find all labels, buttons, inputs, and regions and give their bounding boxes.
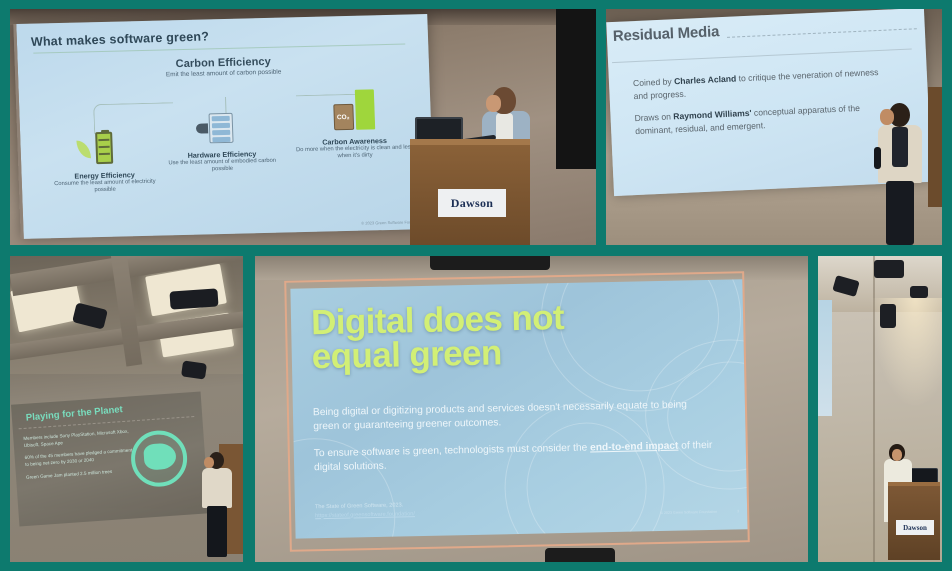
pillar-carbon-awareness: CO₂ Carbon Awareness Do more when the el… — [288, 88, 420, 162]
pillar-hardware-efficiency: Hardware Efficiency Use the least amount… — [162, 112, 282, 175]
leaf-icon — [76, 140, 91, 158]
slide-bullets: Members include Sony PlayStation, Micros… — [23, 428, 136, 481]
speaker-legs — [886, 181, 914, 245]
bullet-2: 60% of the 45 members have pledged a com… — [25, 448, 136, 469]
podium-plaque: Dawson — [438, 189, 506, 217]
slide-page-number: 3 — [737, 509, 739, 513]
headline-line-2: equal green — [311, 334, 612, 374]
screen-frame: Digital does not equal green Being digit… — [284, 271, 750, 552]
body-paragraph-1: Being digital or digitizing products and… — [313, 398, 714, 435]
slide-copyright: © 2023 Green Software Foundation — [660, 510, 717, 515]
speaker-top — [892, 127, 908, 167]
podium-plaque: Dawson — [896, 520, 934, 535]
slide-what-makes-software-green: What makes software green? Carbon Effici… — [13, 14, 434, 239]
slide-headline: Digital does not equal green — [311, 300, 612, 373]
panel-top-right: Residual Media Coined by Charles Acland … — [606, 9, 942, 245]
speaker-jacket — [202, 468, 232, 508]
source-url-link[interactable]: https://stateof.greensoftware.foundation… — [315, 511, 415, 519]
floor-fixture — [545, 548, 615, 562]
dark-curtain — [556, 9, 596, 169]
panel-bottom-center: Digital does not equal green Being digit… — [255, 256, 808, 562]
pillar-energy-efficiency: Energy Efficiency Consume the least amou… — [48, 131, 160, 196]
speaker-face — [880, 109, 894, 125]
photo-collage: What makes software green? Carbon Effici… — [0, 0, 952, 571]
panel-bottom-right: Dawson — [818, 256, 942, 562]
podium: Dawson — [888, 482, 940, 560]
paragraph-2: Draws on Raymond Williams' conceptual ap… — [634, 100, 890, 137]
speaker-legs — [207, 506, 227, 557]
handheld-microphone — [874, 147, 881, 169]
co2-box-icon: CO₂ — [333, 104, 354, 130]
header-rule — [612, 48, 912, 63]
title-dashed-line — [727, 28, 917, 38]
stage-light-icon — [910, 286, 928, 298]
pillar-desc: Do more when the electricity is clean an… — [290, 144, 420, 162]
stage-light-icon — [169, 288, 218, 309]
battery-icon — [95, 132, 113, 164]
server-rack-icon — [209, 113, 234, 144]
wall-post — [928, 87, 942, 207]
pillar-desc: Consume the least amount of electricity … — [50, 179, 160, 196]
planet-gamepad-icon — [129, 429, 189, 489]
panel-bottom-left: Playing for the Planet Members include S… — [10, 256, 243, 562]
plug-icon — [196, 123, 208, 133]
slide-title: Playing for the Planet — [25, 404, 123, 423]
stage-light-icon — [874, 260, 904, 278]
ceiling-fixture — [430, 256, 550, 270]
speaker-face — [486, 95, 501, 112]
slide-digital-does-not-equal-green: Digital does not equal green Being digit… — [290, 279, 747, 538]
bullet-1: Members include Sony PlayStation, Micros… — [23, 428, 134, 449]
carbon-efficiency-diagram: Energy Efficiency Consume the least amou… — [32, 74, 419, 203]
panel-top-left: What makes software green? Carbon Effici… — [10, 9, 596, 245]
stage-light-icon — [880, 304, 896, 328]
slide-source: The State of Green Software, 2023. https… — [315, 501, 415, 520]
speaker-person — [202, 452, 232, 557]
paragraph-1: Coined by Charles Acland to critique the… — [633, 66, 889, 103]
bullet-3: Green Game Jam planted 2.5 million trees — [26, 467, 136, 481]
podium: Dawson — [410, 139, 530, 245]
slide-body: Being digital or digitizing products and… — [313, 398, 714, 476]
slide-playing-for-the-planet: Playing for the Planet Members include S… — [11, 392, 209, 527]
stage-light-icon — [181, 360, 207, 379]
speaker-person — [878, 103, 924, 245]
slide-body: Coined by Charles Acland to critique the… — [633, 66, 890, 138]
speaker-face — [204, 457, 214, 468]
slide-title: Residual Media — [612, 23, 719, 45]
projection-screen-edge — [818, 300, 832, 416]
pillar-desc: Use the least amount of embodied carbon … — [163, 158, 281, 175]
green-bar-icon — [354, 89, 374, 129]
speaker-face — [892, 449, 902, 461]
